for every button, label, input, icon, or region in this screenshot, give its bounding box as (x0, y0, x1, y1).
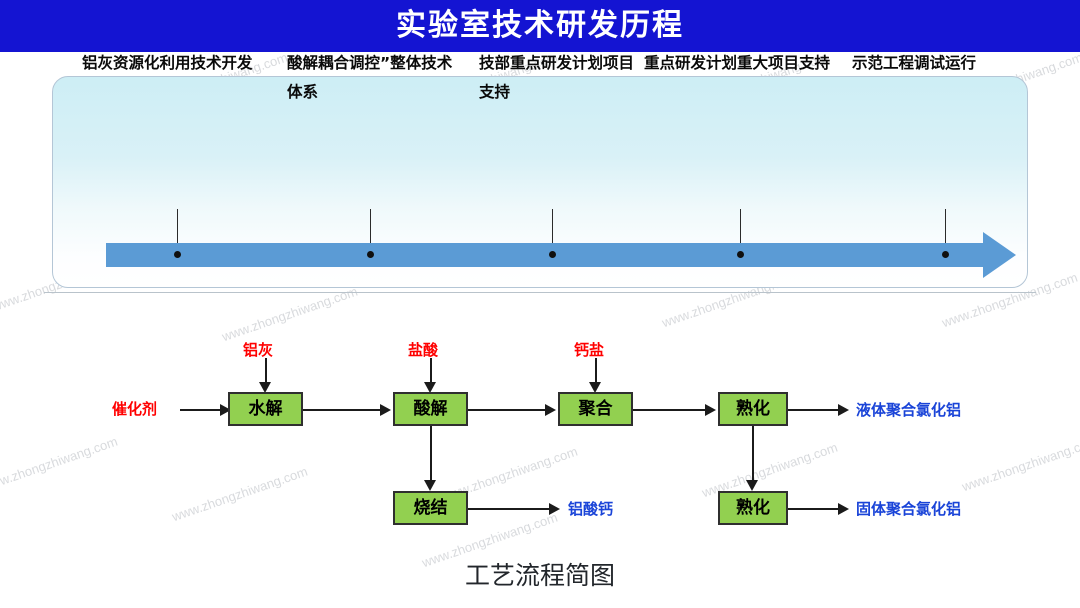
flow-box-hydrolysis[interactable]: 水解 (228, 392, 303, 426)
flow-box-sintering[interactable]: 烧结 (393, 491, 468, 525)
flow-input-aluminum-ash-label: 铝灰 (243, 339, 273, 360)
flow-input-hydrochloric-acid-label: 盐酸 (408, 339, 438, 360)
flow-line-liquid-pac (788, 409, 840, 411)
flow-arrow-liquid-pac-icon (838, 404, 849, 416)
flow-line-aging-aging (752, 426, 754, 482)
flow-input-calcium-salt-label: 钙盐 (574, 339, 604, 360)
timeline-marker-4 (737, 251, 744, 258)
flow-box-aging-bottom[interactable]: 熟化 (718, 491, 788, 525)
flow-line-catalyst (180, 409, 222, 411)
timeline-marker-5 (942, 251, 949, 258)
flow-box-acidolysis[interactable]: 酸解 (393, 392, 468, 426)
flow-line-acidolysis-sintering (430, 426, 432, 482)
flow-box-aging-top[interactable]: 熟化 (718, 392, 788, 426)
timeline-marker-3 (549, 251, 556, 258)
page-title: 实验室技术研发历程 (0, 4, 1080, 48)
flow-arrow-acidolysis-sintering-icon (424, 480, 436, 491)
feed-line-hydrochloric-acid (430, 358, 432, 384)
flow-line-acidolysis-polymerization (468, 409, 547, 411)
timeline-arrow-head-icon (983, 232, 1016, 278)
flow-arrow-acidolysis-polymerization-icon (545, 404, 556, 416)
flow-box-polymerization[interactable]: 聚合 (558, 392, 633, 426)
timeline-marker-1 (174, 251, 181, 258)
section-divider (44, 292, 1036, 293)
flow-arrow-hydrolysis-acidolysis-icon (380, 404, 391, 416)
title-banner: 实验室技术研发历程 (0, 0, 1080, 52)
flow-line-calcium-aluminate (468, 508, 551, 510)
flow-output-liquid-pac-label: 液体聚合氯化铝 (856, 399, 961, 420)
flow-line-solid-pac (788, 508, 840, 510)
timeline-marker-2 (367, 251, 374, 258)
flow-arrow-solid-pac-icon (838, 503, 849, 515)
timeline-arrow-bar (106, 243, 986, 267)
flow-output-solid-pac-label: 固体聚合氯化铝 (856, 498, 961, 519)
flow-arrow-aging-aging-icon (746, 480, 758, 491)
flow-arrow-polymerization-aging-icon (705, 404, 716, 416)
flow-output-calcium-aluminate-label: 铝酸钙 (568, 498, 613, 519)
feed-line-aluminum-ash (265, 358, 267, 384)
feed-line-calcium-salt (595, 358, 597, 384)
watermark-text: www.zhongzhiwang.com (960, 434, 1080, 495)
watermark-text: www.zhongzhiwang.com (170, 464, 309, 525)
flow-diagram-caption: 工艺流程简图 (0, 556, 1080, 592)
flow-input-catalyst-label: 催化剂 (112, 398, 157, 419)
watermark-text: www.zhongzhiwang.com (0, 434, 119, 495)
flow-line-polymerization-aging (633, 409, 707, 411)
flow-line-hydrolysis-acidolysis (303, 409, 382, 411)
flow-arrow-calcium-aluminate-icon (549, 503, 560, 515)
